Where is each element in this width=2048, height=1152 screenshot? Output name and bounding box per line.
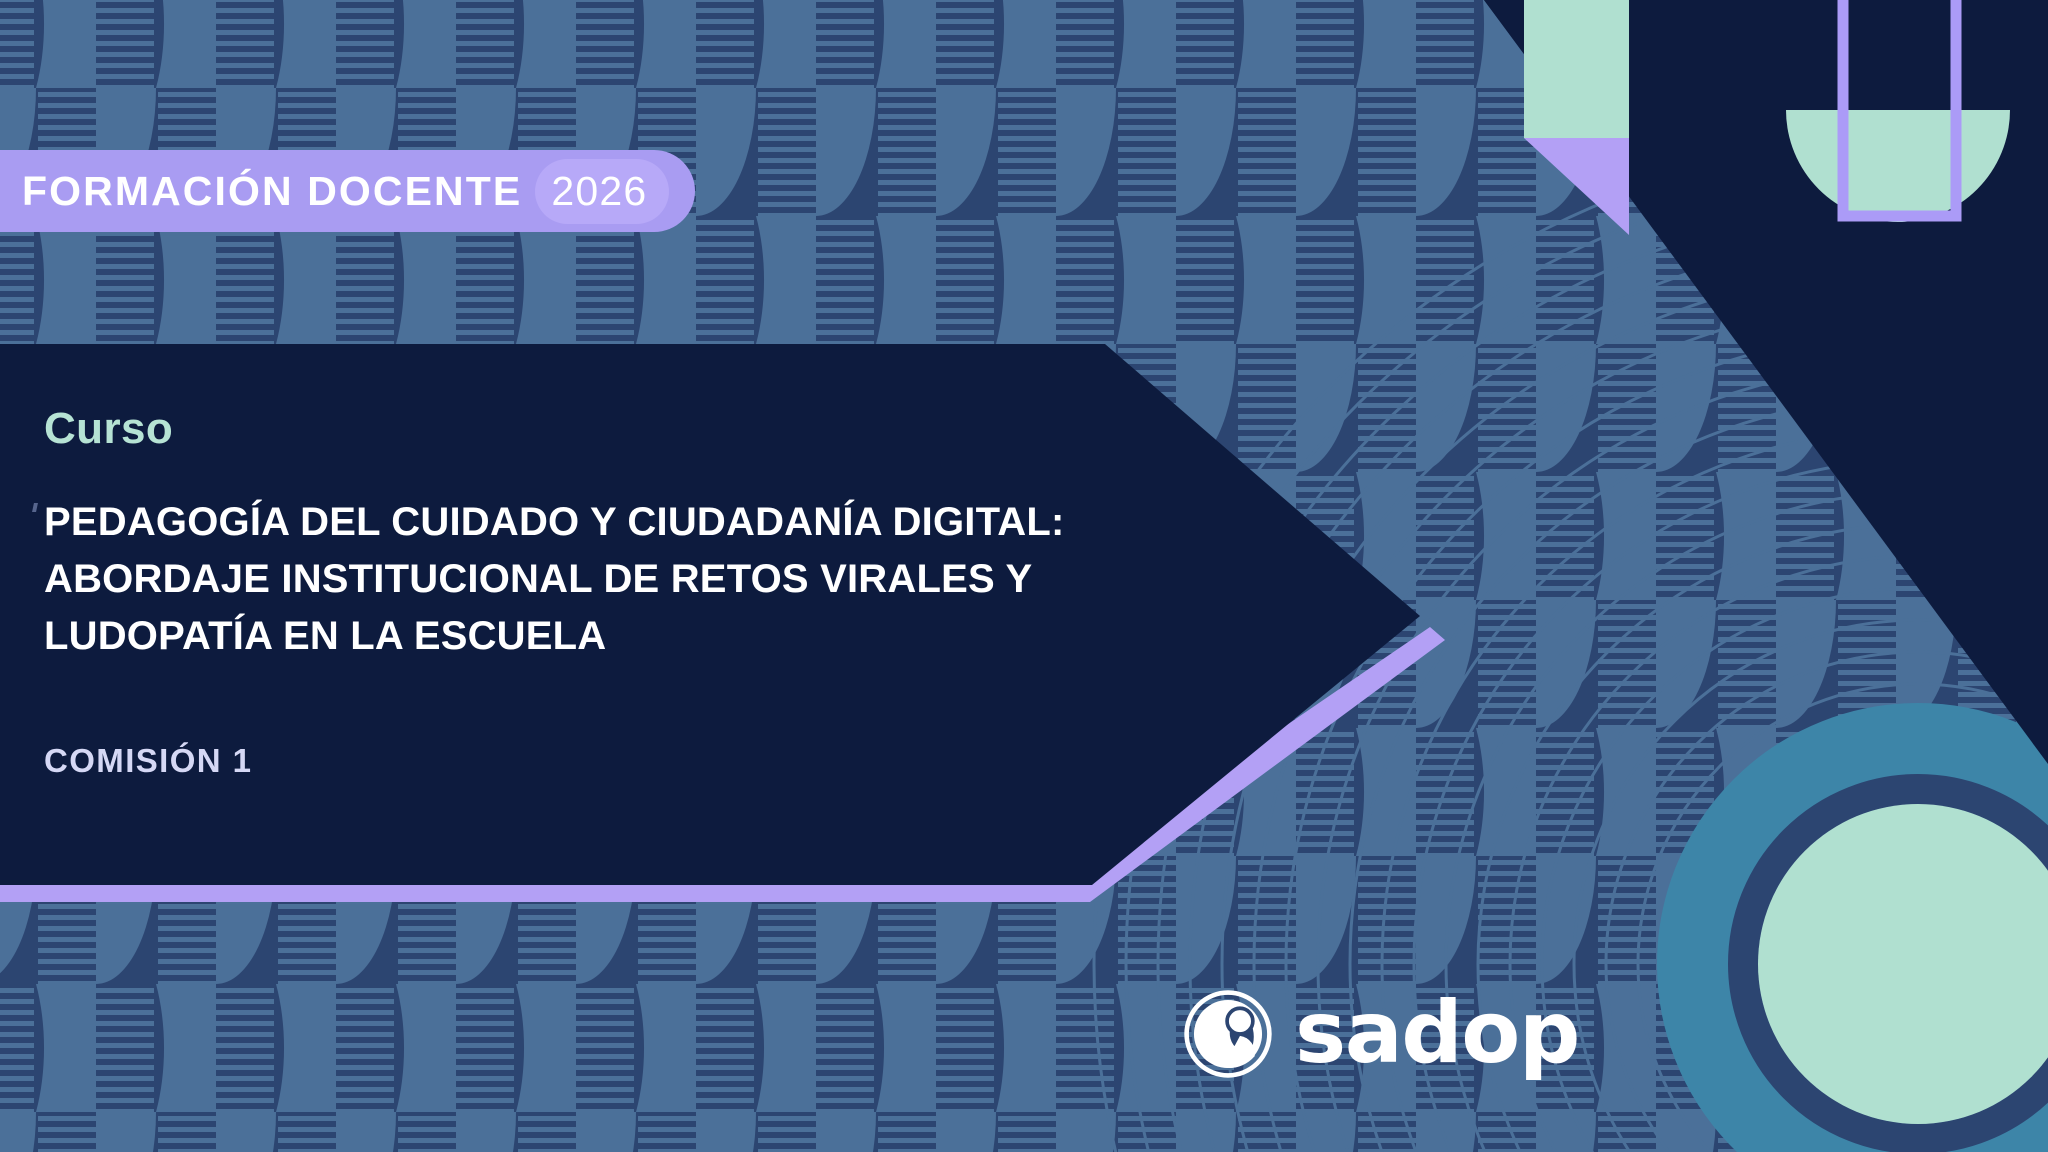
slide-canvas: FORMACIÓN DOCENTE 2026 Curso PEDAGOGÍA D… <box>0 0 2048 1152</box>
course-text-block: Curso PEDAGOGÍA DEL CUIDADO Y CIUDADANÍA… <box>44 404 1294 780</box>
kicker-label: Curso <box>44 404 1294 454</box>
page-title: PEDAGOGÍA DEL CUIDADO Y CIUDADANÍA DIGIT… <box>44 494 1269 664</box>
ribbon-year-badge: 2026 <box>535 159 669 224</box>
ribbon-label: FORMACIÓN DOCENTE <box>22 168 522 215</box>
sadop-circle-figure-icon <box>1182 988 1274 1080</box>
formacion-docente-ribbon: FORMACIÓN DOCENTE 2026 <box>0 150 695 232</box>
commission-label: COMISIÓN 1 <box>44 742 1294 780</box>
sadop-wordmark: sadop <box>1295 1000 1579 1067</box>
sadop-logo: sadop <box>1182 988 1579 1080</box>
